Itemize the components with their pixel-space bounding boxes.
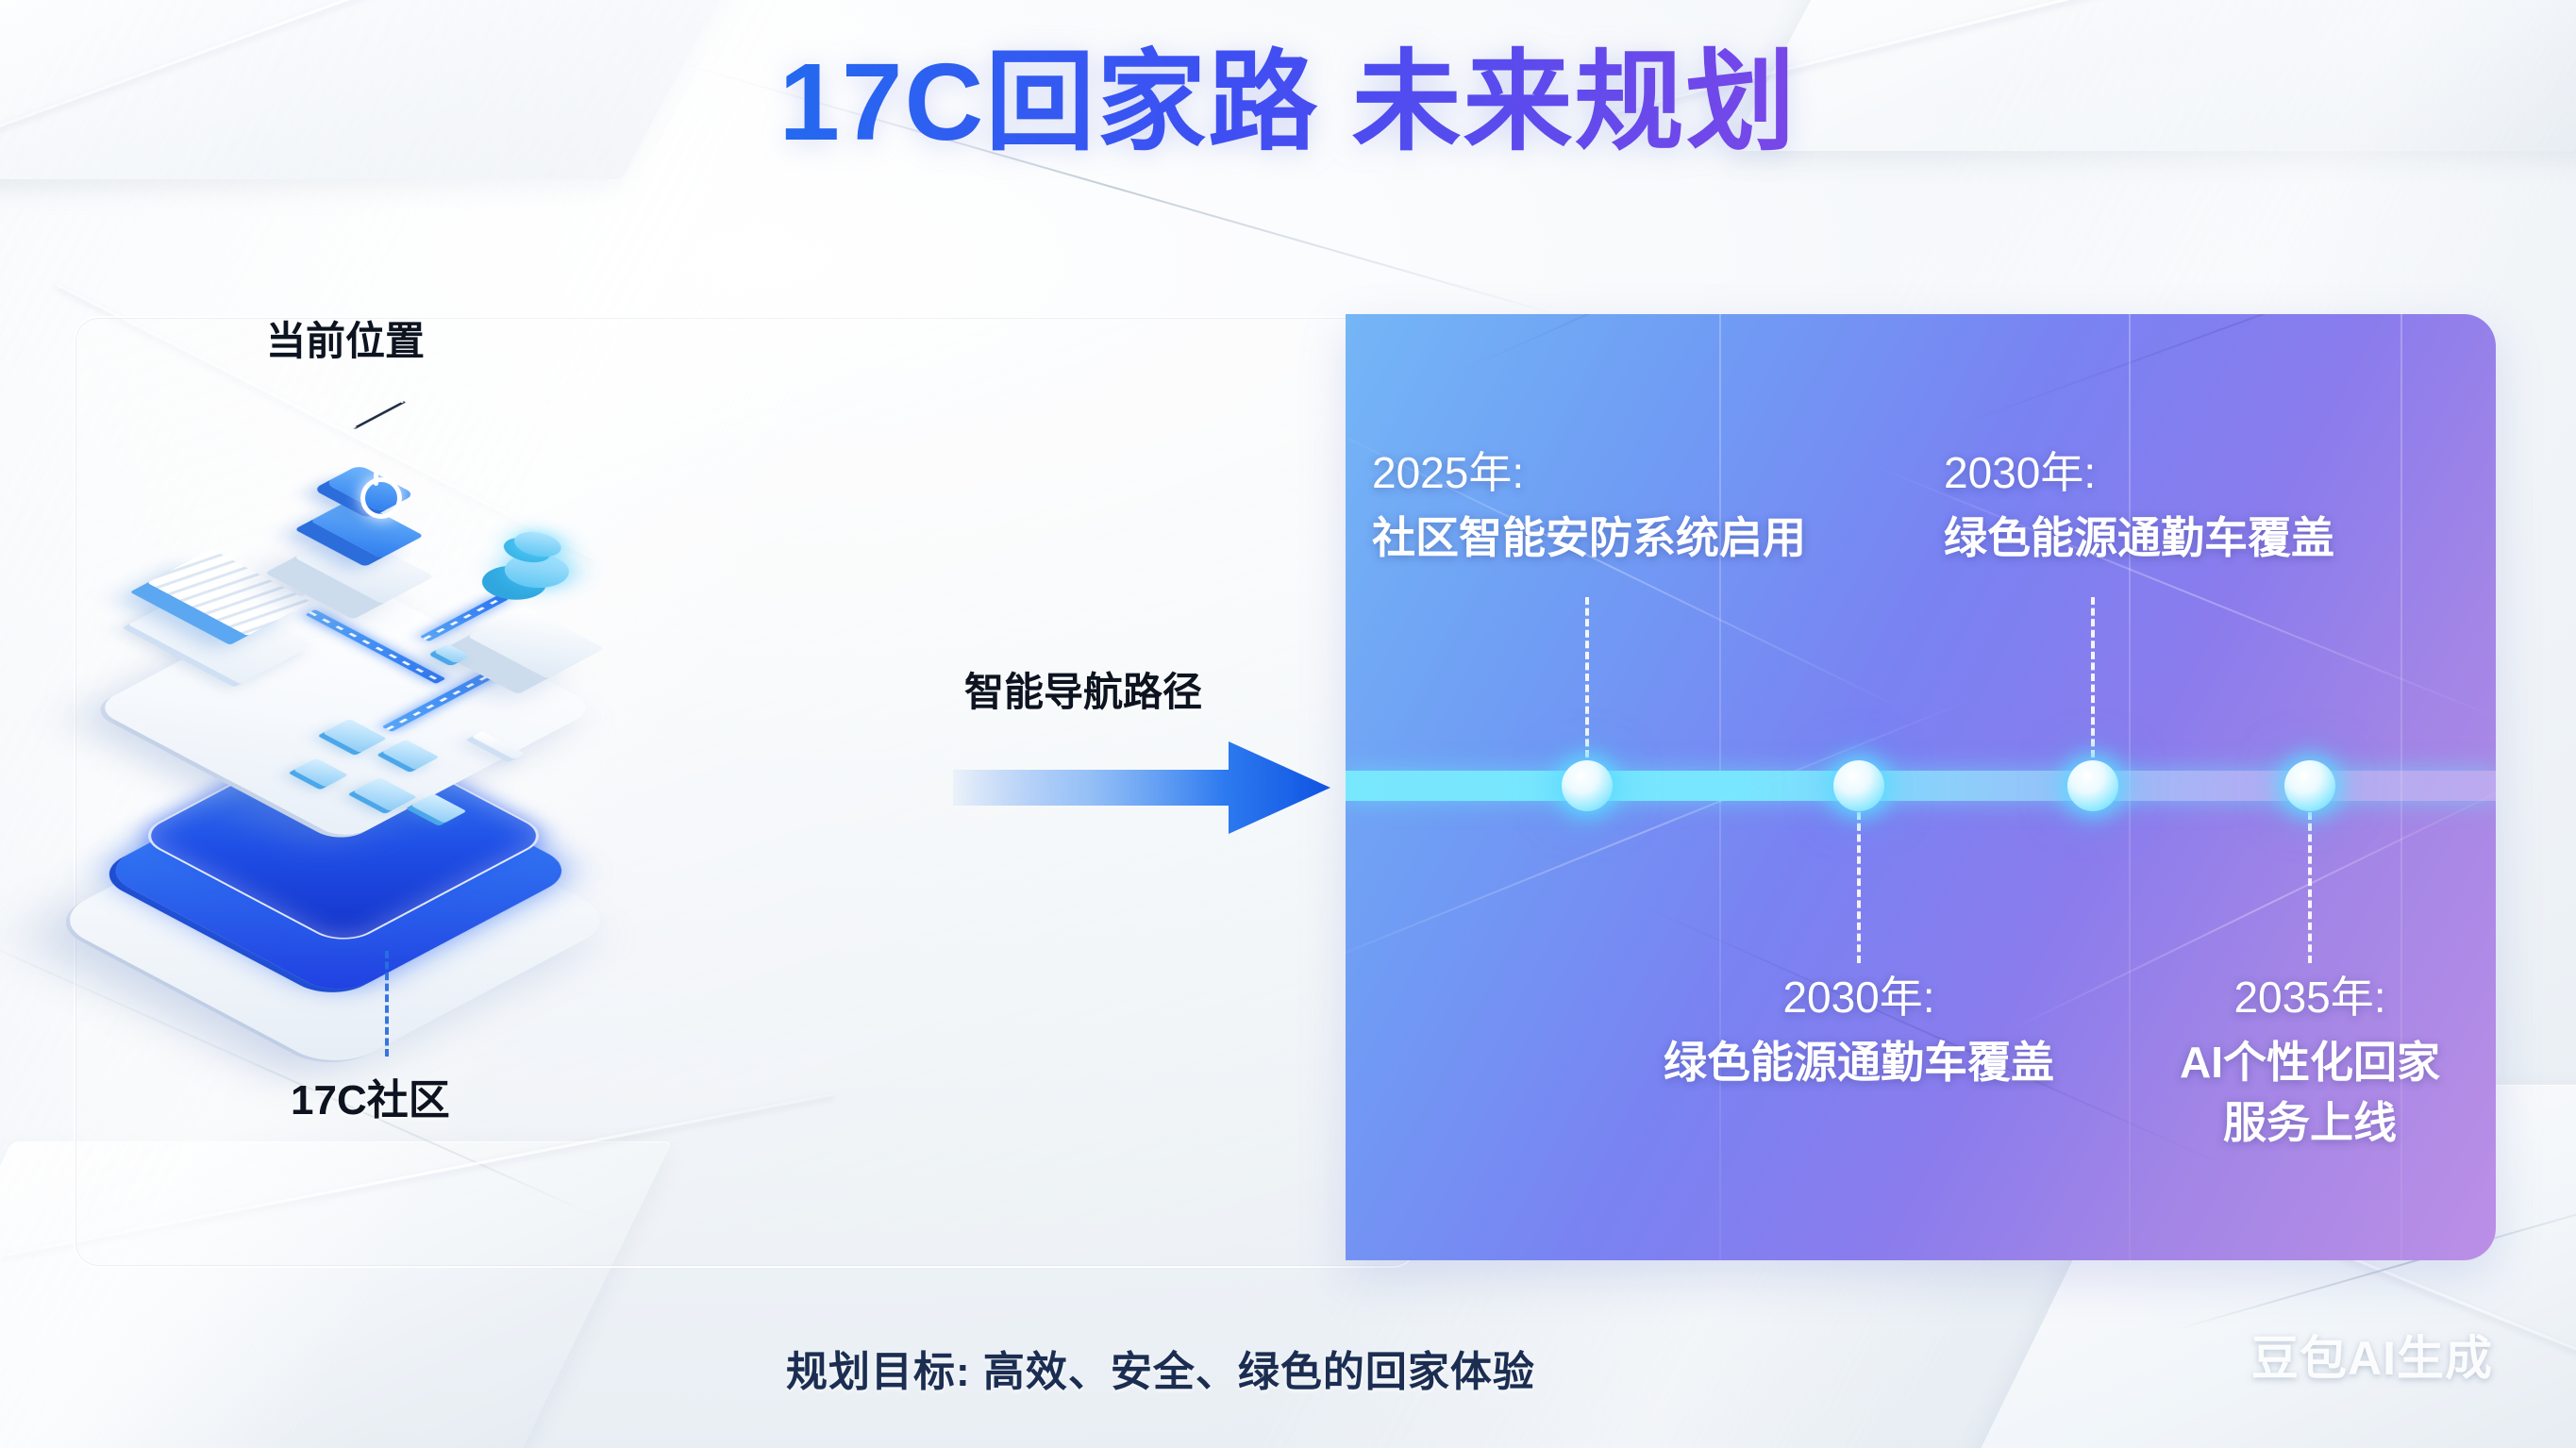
panel-facet-4 <box>1949 314 2496 429</box>
milestone-1-year: 2025年: <box>1372 446 1524 501</box>
milestone-4-year-text: 2035年: <box>2233 973 2385 1022</box>
milestone-2-desc: 绿色能源通勤车覆盖 <box>1664 1035 2054 1091</box>
milestone-4-desc-line2: 服务上线 <box>2223 1095 2397 1152</box>
panel-facet-5 <box>1346 699 1972 976</box>
milestone-4-desc-line1-text: AI个性化回家 <box>2180 1038 2440 1087</box>
isometric-city-illustration: 当前位置 17C社区 <box>104 406 953 1160</box>
milestone-2-stem <box>1857 812 1861 963</box>
current-location-label: 当前位置 <box>266 309 425 367</box>
milestone-1-dot[interactable] <box>1562 760 1613 811</box>
milestone-2-year-text: 2030年: <box>1782 973 1934 1022</box>
page-title: 17C回家路 未来规划 <box>0 42 2576 163</box>
panel-facet-3 <box>1874 465 2496 722</box>
watermark: 豆包AI生成 <box>2251 1321 2493 1389</box>
milestone-2-year: 2030年: <box>1782 971 1934 1025</box>
current-location-leader-line <box>353 401 407 429</box>
power-indicator-icon <box>360 477 402 519</box>
infographic-canvas: 17C回家路 未来规划 <box>0 0 2576 1448</box>
milestone-3-year: 2030年: <box>1944 446 2096 501</box>
navigation-arrow-group: 智能导航路径 <box>953 660 1349 849</box>
goal-note: 规划目标: 高效、安全、绿色的回家体验 <box>0 1338 2321 1398</box>
navigation-arrow-icon <box>953 736 1330 840</box>
panel-facet-2 <box>1459 314 1994 373</box>
milestone-3-year-text: 2030年: <box>1944 448 2096 497</box>
milestone-4-desc-line2-text: 服务上线 <box>2223 1098 2397 1147</box>
milestone-3-stem <box>2091 597 2095 757</box>
milestone-2-dot[interactable] <box>1833 760 1884 811</box>
community-leader-line <box>385 951 389 1057</box>
nav-path-label: 智能导航路径 <box>964 660 1202 718</box>
milestone-1-stem <box>1585 597 1589 757</box>
milestone-3-desc-text: 绿色能源通勤车覆盖 <box>1944 513 2334 562</box>
community-label: 17C社区 <box>291 1066 450 1126</box>
milestone-1-desc: 社区智能安防系统启用 <box>1372 510 1806 567</box>
milestone-4-desc-line1: AI个性化回家 <box>2180 1035 2440 1091</box>
power-indicator-stem <box>374 472 378 486</box>
milestone-4-dot[interactable] <box>2284 760 2335 811</box>
milestone-2-desc-text: 绿色能源通勤车覆盖 <box>1664 1038 2054 1087</box>
milestone-3-desc: 绿色能源通勤车覆盖 <box>1944 510 2334 567</box>
milestone-4-stem <box>2308 812 2312 963</box>
milestone-1-year-text: 2025年: <box>1372 448 1524 497</box>
timeline-panel: 2025年: 社区智能安防系统启用 2030年: 绿色能源通勤车覆盖 2030年… <box>1346 314 2496 1260</box>
milestone-4-year: 2035年: <box>2233 971 2385 1025</box>
milestone-1-desc-text: 社区智能安防系统启用 <box>1372 513 1806 562</box>
milestone-3-dot[interactable] <box>2067 760 2118 811</box>
